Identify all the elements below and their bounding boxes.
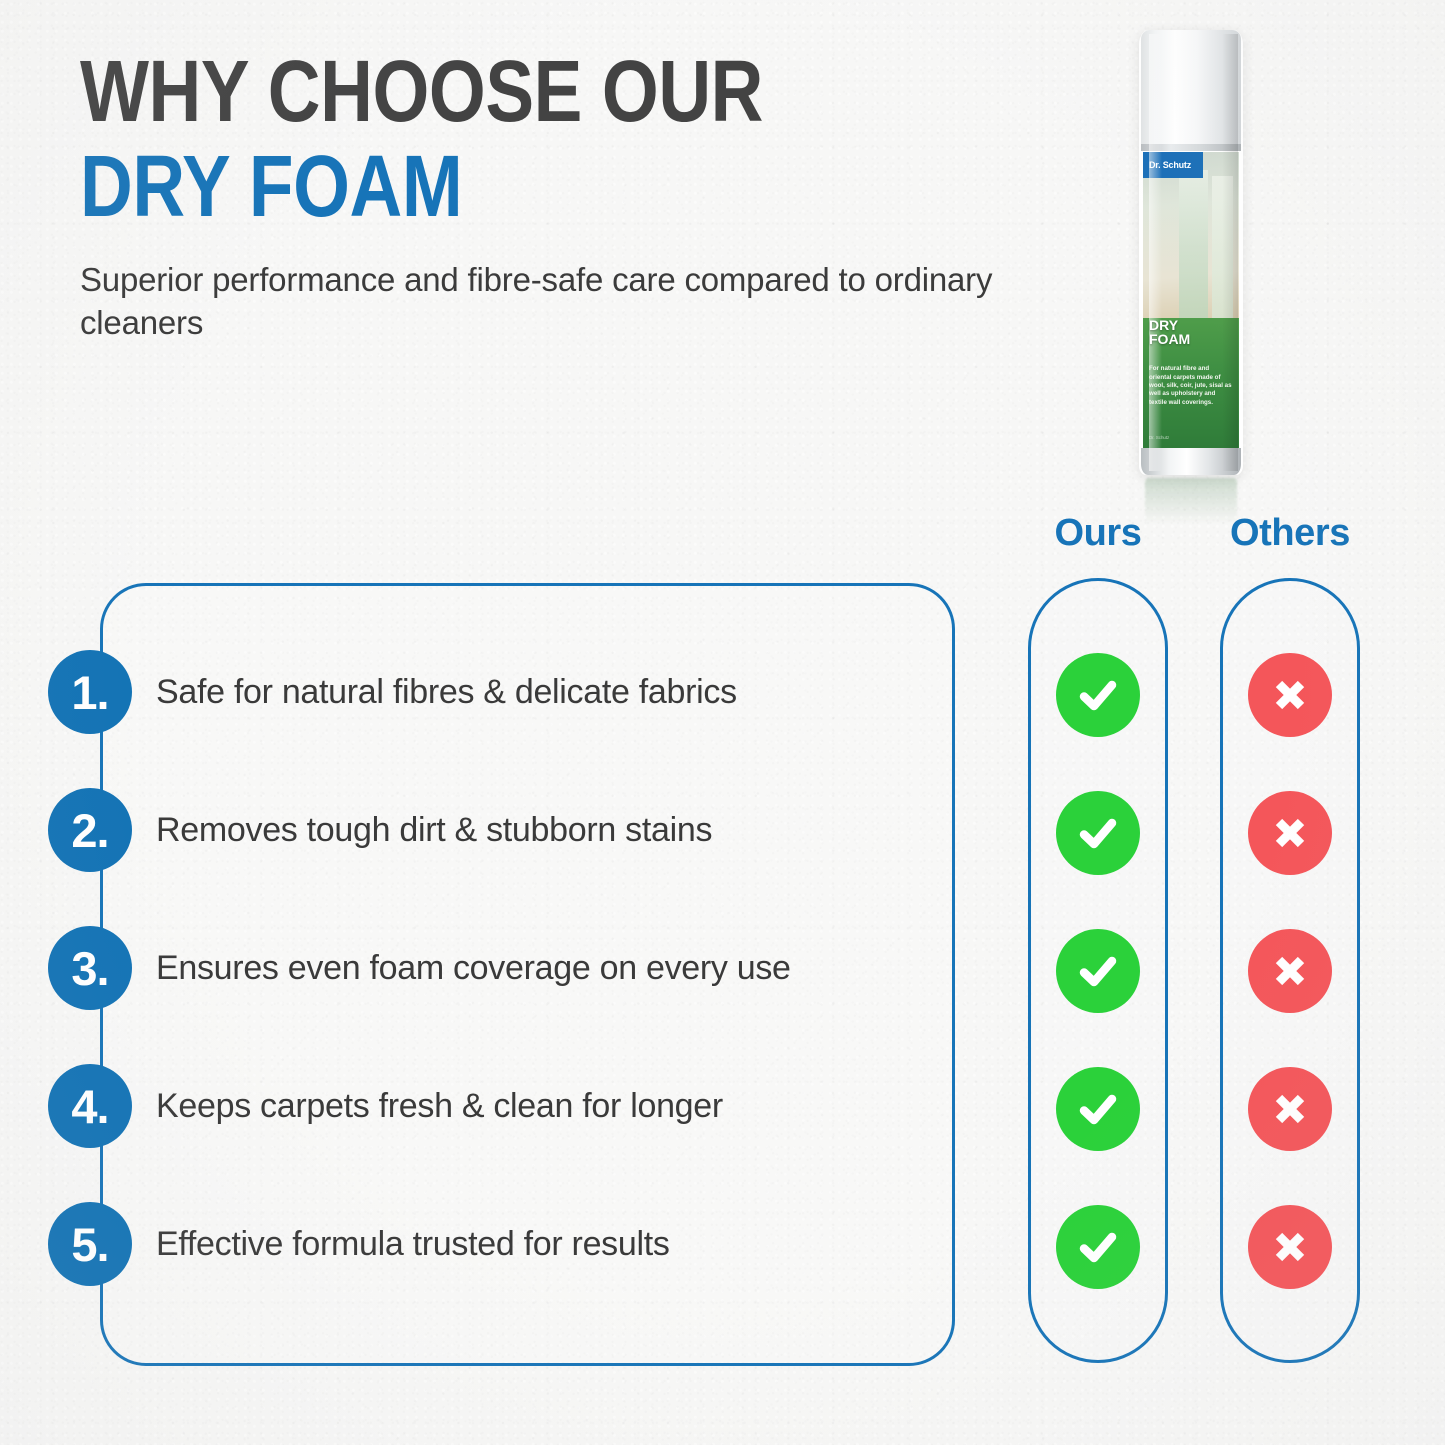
check-icon bbox=[1056, 929, 1140, 1013]
others-cell bbox=[1248, 929, 1332, 1013]
infographic-canvas: WHY CHOOSE OUR DRY FOAM Superior perform… bbox=[0, 0, 1445, 1445]
benefit-row: 4.Keeps carpets fresh & clean for longer bbox=[48, 1057, 723, 1155]
benefits-list: 1.Safe for natural fibres & delicate fab… bbox=[48, 583, 978, 1366]
benefit-number-badge: 1. bbox=[48, 650, 132, 734]
cross-icon bbox=[1248, 653, 1332, 737]
label-window-right bbox=[1212, 176, 1233, 330]
benefit-row: 5.Effective formula trusted for results bbox=[48, 1195, 670, 1293]
benefit-text: Keeps carpets fresh & clean for longer bbox=[156, 1087, 723, 1126]
check-icon bbox=[1056, 1205, 1140, 1289]
can-description: For natural fibre and oriental carpets m… bbox=[1149, 365, 1233, 407]
benefit-number-badge: 2. bbox=[48, 788, 132, 872]
can-footnote: Dr. Schutz bbox=[1149, 435, 1169, 440]
benefit-row: 3.Ensures even foam coverage on every us… bbox=[48, 919, 791, 1017]
header-block: WHY CHOOSE OUR DRY FOAM Superior perform… bbox=[80, 52, 1060, 345]
benefit-text: Ensures even foam coverage on every use bbox=[156, 949, 791, 988]
product-can-image: Dr. Schutz DRY FOAM For natural fibre an… bbox=[1139, 30, 1243, 485]
label-window-left bbox=[1179, 170, 1208, 342]
can-cap bbox=[1141, 30, 1241, 148]
benefit-row: 2.Removes tough dirt & stubborn stains bbox=[48, 781, 712, 879]
ours-cell bbox=[1056, 1067, 1140, 1151]
others-column bbox=[1220, 578, 1360, 1363]
page-subtitle: Superior performance and fibre-safe care… bbox=[80, 258, 1040, 345]
check-icon bbox=[1056, 1067, 1140, 1151]
can-product-name-line2: FOAM bbox=[1149, 332, 1190, 346]
benefit-number-badge: 4. bbox=[48, 1064, 132, 1148]
can-cap-rim bbox=[1141, 144, 1241, 151]
can-product-name-line1: DRY bbox=[1149, 318, 1190, 332]
can-label: Dr. Schutz DRY FOAM For natural fibre an… bbox=[1143, 152, 1239, 448]
benefit-row: 1.Safe for natural fibres & delicate fab… bbox=[48, 643, 737, 741]
benefit-number-badge: 3. bbox=[48, 926, 132, 1010]
ours-cell bbox=[1056, 791, 1140, 875]
others-cell bbox=[1248, 1205, 1332, 1289]
ours-cell bbox=[1056, 653, 1140, 737]
page-title-line2: DRY FOAM bbox=[80, 147, 903, 228]
can-body: Dr. Schutz DRY FOAM For natural fibre an… bbox=[1139, 30, 1243, 475]
column-header-others: Others bbox=[1200, 512, 1380, 555]
can-product-name: DRY FOAM bbox=[1149, 318, 1190, 347]
check-icon bbox=[1056, 653, 1140, 737]
cross-icon bbox=[1248, 791, 1332, 875]
ours-cell bbox=[1056, 1205, 1140, 1289]
cross-icon bbox=[1248, 1205, 1332, 1289]
cross-icon bbox=[1248, 1067, 1332, 1151]
page-title-line1: WHY CHOOSE OUR bbox=[80, 52, 903, 133]
check-icon bbox=[1056, 791, 1140, 875]
others-cell bbox=[1248, 1067, 1332, 1151]
benefit-number-badge: 5. bbox=[48, 1202, 132, 1286]
others-cell bbox=[1248, 791, 1332, 875]
cross-icon bbox=[1248, 929, 1332, 1013]
ours-cell bbox=[1056, 929, 1140, 1013]
benefit-text: Safe for natural fibres & delicate fabri… bbox=[156, 673, 737, 712]
brand-logo-text: Dr. Schutz bbox=[1143, 160, 1191, 170]
benefit-text: Removes tough dirt & stubborn stains bbox=[156, 811, 712, 850]
others-cell bbox=[1248, 653, 1332, 737]
can-base-rim bbox=[1141, 448, 1241, 475]
ours-column bbox=[1028, 578, 1168, 1363]
brand-band: Dr. Schutz bbox=[1143, 152, 1203, 178]
column-header-ours: Ours bbox=[1018, 512, 1178, 555]
benefit-text: Effective formula trusted for results bbox=[156, 1225, 670, 1264]
